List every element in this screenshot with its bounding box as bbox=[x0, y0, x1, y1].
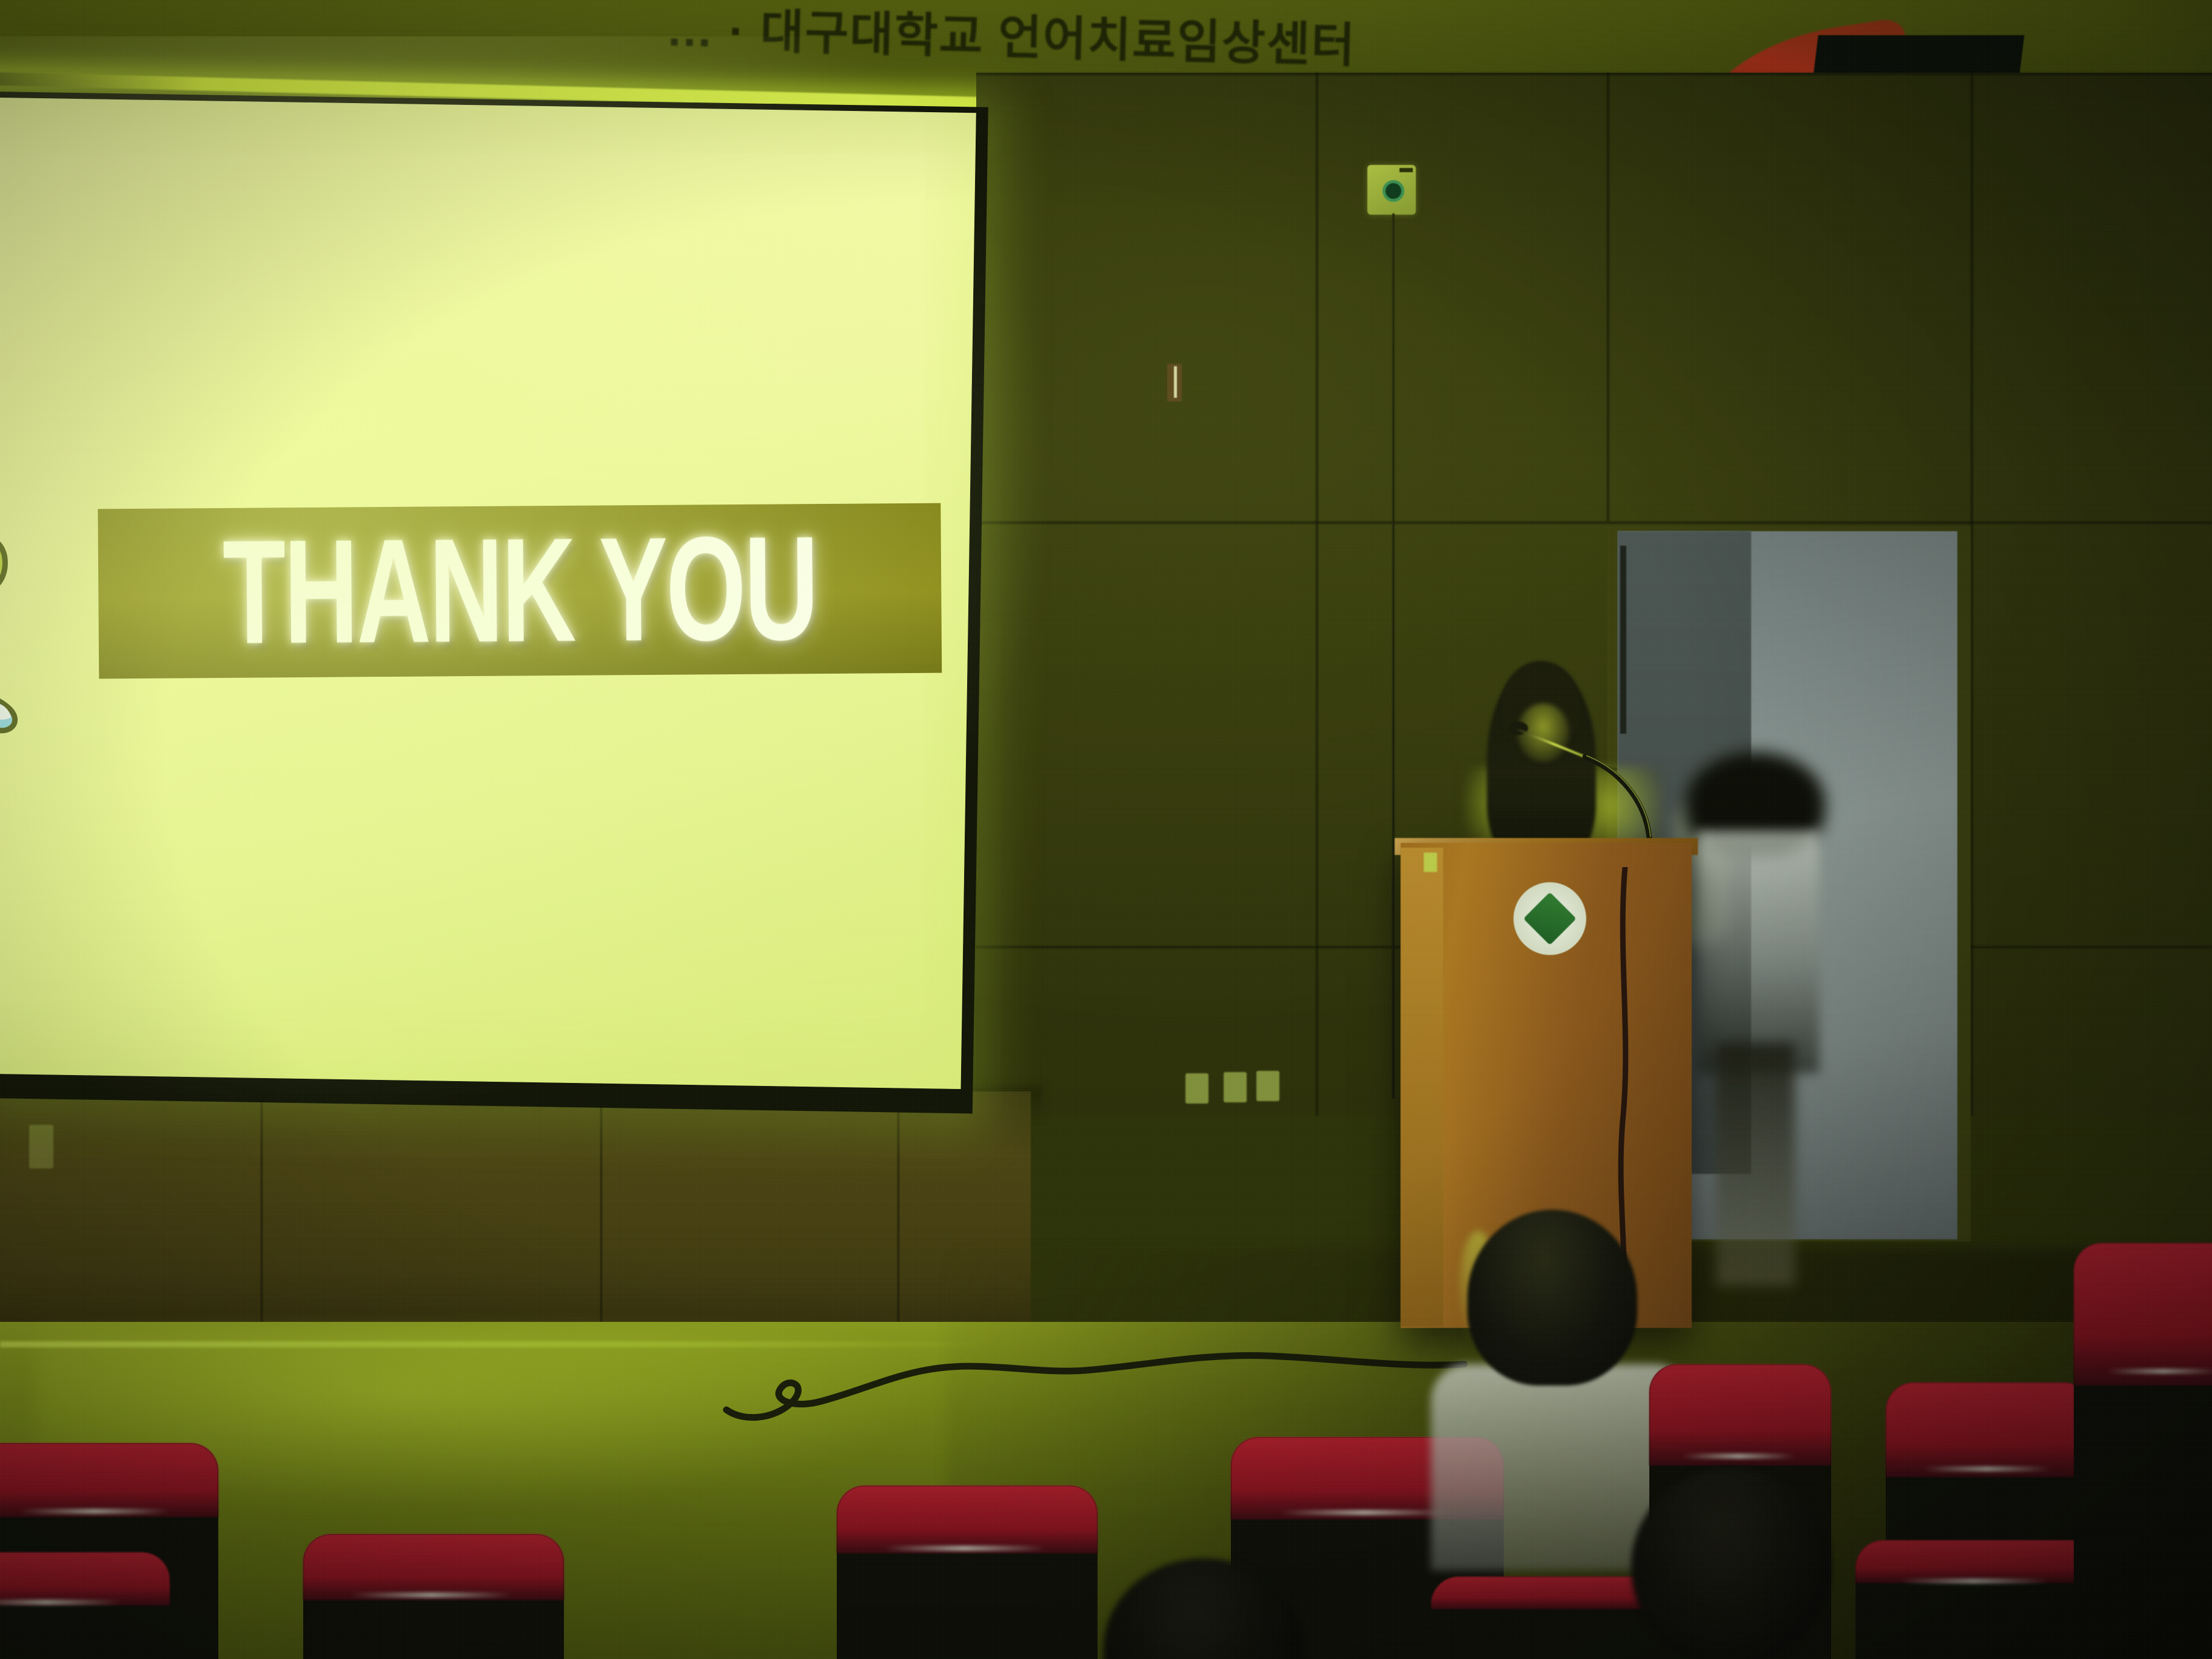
seat-crest bbox=[303, 1534, 564, 1600]
seat-gloss bbox=[1899, 1578, 2049, 1584]
seat-crest bbox=[2074, 1243, 2212, 1386]
wall-outlet-plate[interactable] bbox=[1224, 1072, 1247, 1102]
sensor-cable bbox=[1392, 213, 1395, 1099]
university-emblem-icon bbox=[1513, 882, 1586, 955]
wainscot-seam bbox=[261, 1098, 263, 1340]
wainscot-seam bbox=[897, 1100, 899, 1342]
wall-light-switch[interactable] bbox=[1167, 364, 1182, 401]
wall-sensor-device bbox=[1367, 165, 1416, 215]
seat-gloss bbox=[2106, 1369, 2212, 1374]
seat-gloss bbox=[1682, 1453, 1795, 1459]
podium-corner-tag bbox=[1424, 853, 1437, 872]
seat-crest bbox=[837, 1486, 1098, 1553]
seat-gloss bbox=[0, 1600, 121, 1605]
door-hinge bbox=[1620, 546, 1626, 734]
venue-banner-text: … · 대구대학교 언어치료임상센터 bbox=[665, 0, 1356, 76]
seat-gloss bbox=[883, 1546, 1045, 1551]
auditorium-seat[interactable] bbox=[0, 1552, 170, 1659]
audience-member-head bbox=[1467, 1210, 1637, 1386]
auditorium-seat[interactable] bbox=[2074, 1243, 2212, 1659]
slide-thankyou-text: THANK YOU bbox=[223, 515, 817, 667]
wall-seam bbox=[976, 521, 2212, 524]
wall-seam bbox=[1607, 73, 1609, 521]
blue-cartoon-mascot-icon bbox=[0, 466, 61, 856]
auditorium-photo-scene: … · 대구대학교 언어치료임상센터 bbox=[0, 0, 2212, 1659]
seat-gloss bbox=[350, 1592, 512, 1598]
podium-left-face bbox=[1401, 848, 1443, 1327]
wainscot-panel bbox=[0, 1091, 1031, 1346]
wall-outlet-plate[interactable] bbox=[1185, 1073, 1208, 1104]
floor-microphone-cable bbox=[722, 1352, 1467, 1431]
sensor-eye-icon bbox=[1386, 183, 1401, 199]
doorway-person-body bbox=[1698, 831, 1819, 1073]
wall-outlet-plate[interactable] bbox=[1256, 1071, 1279, 1101]
seat-crest bbox=[1886, 1382, 2092, 1477]
seat-crest bbox=[0, 1443, 218, 1517]
seat-crest bbox=[0, 1552, 170, 1606]
projection-screen: THANK YOU bbox=[0, 97, 976, 1089]
sensor-label-strip bbox=[1399, 168, 1413, 172]
wall-seam bbox=[1316, 73, 1318, 1116]
seat-crest bbox=[1649, 1364, 1831, 1466]
seat-gloss bbox=[19, 1509, 170, 1514]
wainscot-seam bbox=[600, 1099, 602, 1341]
audience-member-head bbox=[1631, 1467, 1831, 1659]
wall-seam bbox=[1971, 73, 1973, 1116]
auditorium-seat[interactable] bbox=[303, 1534, 564, 1659]
seat-gloss bbox=[1923, 1466, 2051, 1472]
auditorium-seat[interactable] bbox=[1855, 1540, 2098, 1659]
seat-crest bbox=[1855, 1540, 2098, 1583]
doorway-person-legs bbox=[1716, 1043, 1795, 1285]
slide-thankyou-band: THANK YOU bbox=[98, 503, 942, 679]
stage-front-edge bbox=[0, 1341, 994, 1347]
wall-seam bbox=[976, 73, 2212, 75]
seat-gloss bbox=[1280, 1510, 1449, 1515]
auditorium-seat[interactable] bbox=[837, 1486, 1098, 1659]
wainscot-outlet-plate[interactable] bbox=[29, 1125, 53, 1168]
